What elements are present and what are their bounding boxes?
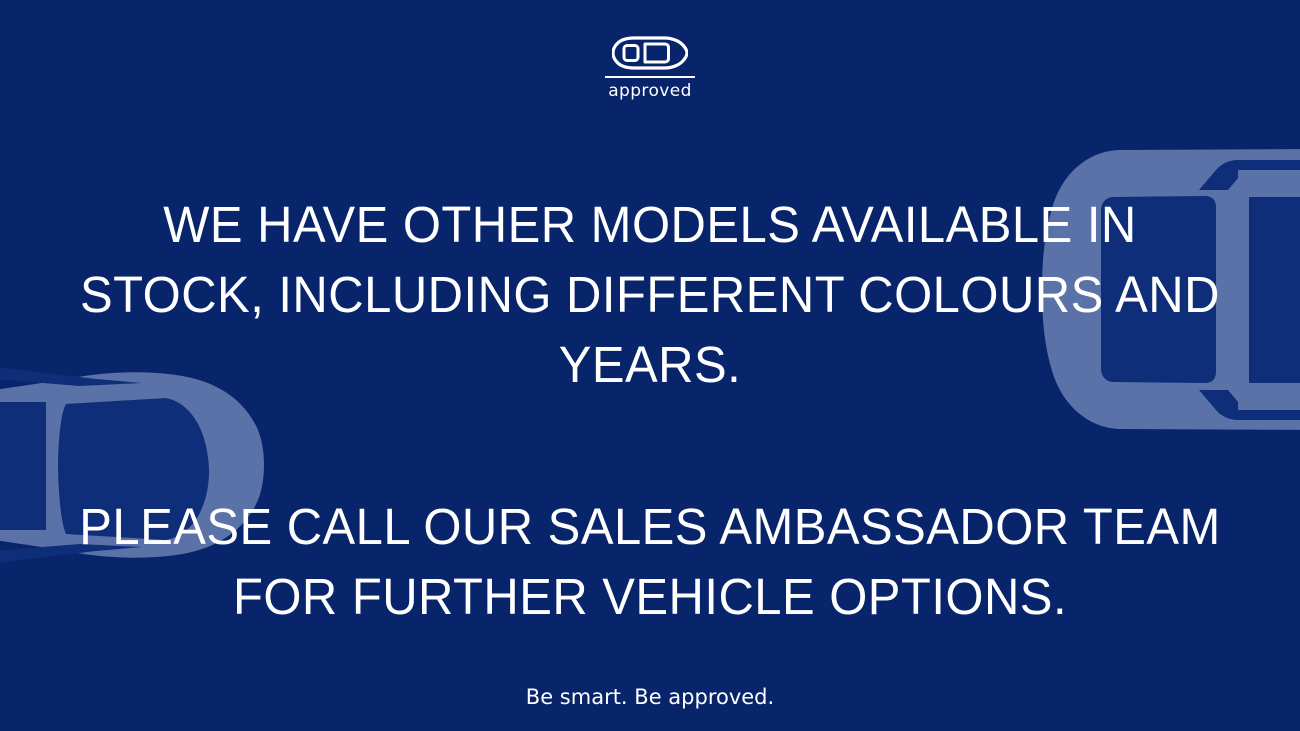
headline-line: FOR FURTHER VEHICLE OPTIONS.	[64, 562, 1235, 632]
headline-line: YEARS.	[64, 330, 1235, 400]
promotional-slide: approved WE HAVE OTHER MODELS AVAILABLE …	[0, 0, 1300, 731]
message-block: WE HAVE OTHER MODELS AVAILABLE IN STOCK,…	[0, 190, 1300, 710]
paragraph-spacer	[40, 400, 1260, 492]
car-top-view-icon	[612, 36, 688, 70]
brand-logo: approved	[0, 36, 1300, 100]
tagline: Be smart. Be approved.	[40, 684, 1260, 710]
headline-paragraph-two: PLEASE CALL OUR SALES AMBASSADOR TEAM FO…	[64, 492, 1235, 632]
headline-line: STOCK, INCLUDING DIFFERENT COLOURS AND	[64, 260, 1235, 330]
headline-paragraph-one: WE HAVE OTHER MODELS AVAILABLE IN STOCK,…	[64, 190, 1235, 400]
headline-line: PLEASE CALL OUR SALES AMBASSADOR TEAM	[64, 492, 1235, 562]
logo-wordmark: approved	[608, 83, 692, 100]
headline-line: WE HAVE OTHER MODELS AVAILABLE IN	[64, 190, 1235, 260]
logo-divider	[605, 76, 695, 78]
